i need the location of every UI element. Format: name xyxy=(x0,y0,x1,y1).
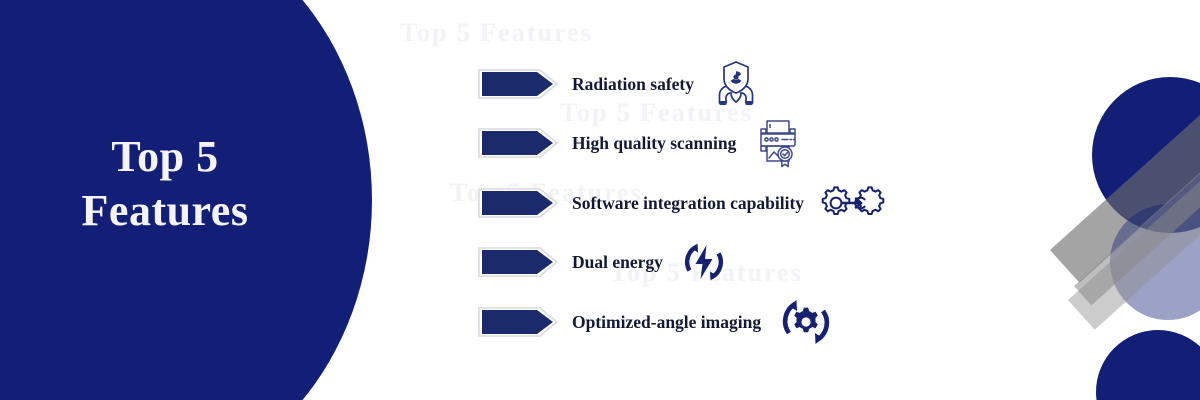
feature-row[interactable]: Optimized-angle imaging xyxy=(470,300,835,344)
chevron-arrow-right-icon xyxy=(470,64,560,104)
chevron-arrow-right-icon xyxy=(470,302,560,342)
radiation-shield-hands-icon xyxy=(710,58,762,110)
feature-label: Dual energy xyxy=(572,252,663,273)
chevron-arrow-right-icon xyxy=(470,242,560,282)
two-gears-arrow-icon xyxy=(820,180,886,226)
feature-row[interactable]: Dual energy xyxy=(470,240,729,284)
feature-label: Radiation safety xyxy=(572,74,694,95)
feature-row[interactable]: Radiation safety xyxy=(470,62,762,106)
feature-row[interactable]: High quality scanning xyxy=(470,121,804,165)
lightning-bolt-cycle-icon xyxy=(679,237,729,287)
infographic-canvas: Top 5 Features Top 5 Features Top 5 Feat… xyxy=(0,0,1200,400)
feature-list: Radiation safety xyxy=(0,0,1200,400)
feature-label: Optimized-angle imaging xyxy=(572,312,761,333)
chevron-arrow-right-icon xyxy=(470,123,560,163)
chevron-arrow-right-icon xyxy=(470,183,560,223)
feature-row[interactable]: Software integration capability xyxy=(470,181,886,225)
scanner-award-badge-icon xyxy=(752,117,804,169)
gear-rotation-arrows-icon xyxy=(777,293,835,351)
feature-label: Software integration capability xyxy=(572,193,804,214)
feature-label: High quality scanning xyxy=(572,133,736,154)
